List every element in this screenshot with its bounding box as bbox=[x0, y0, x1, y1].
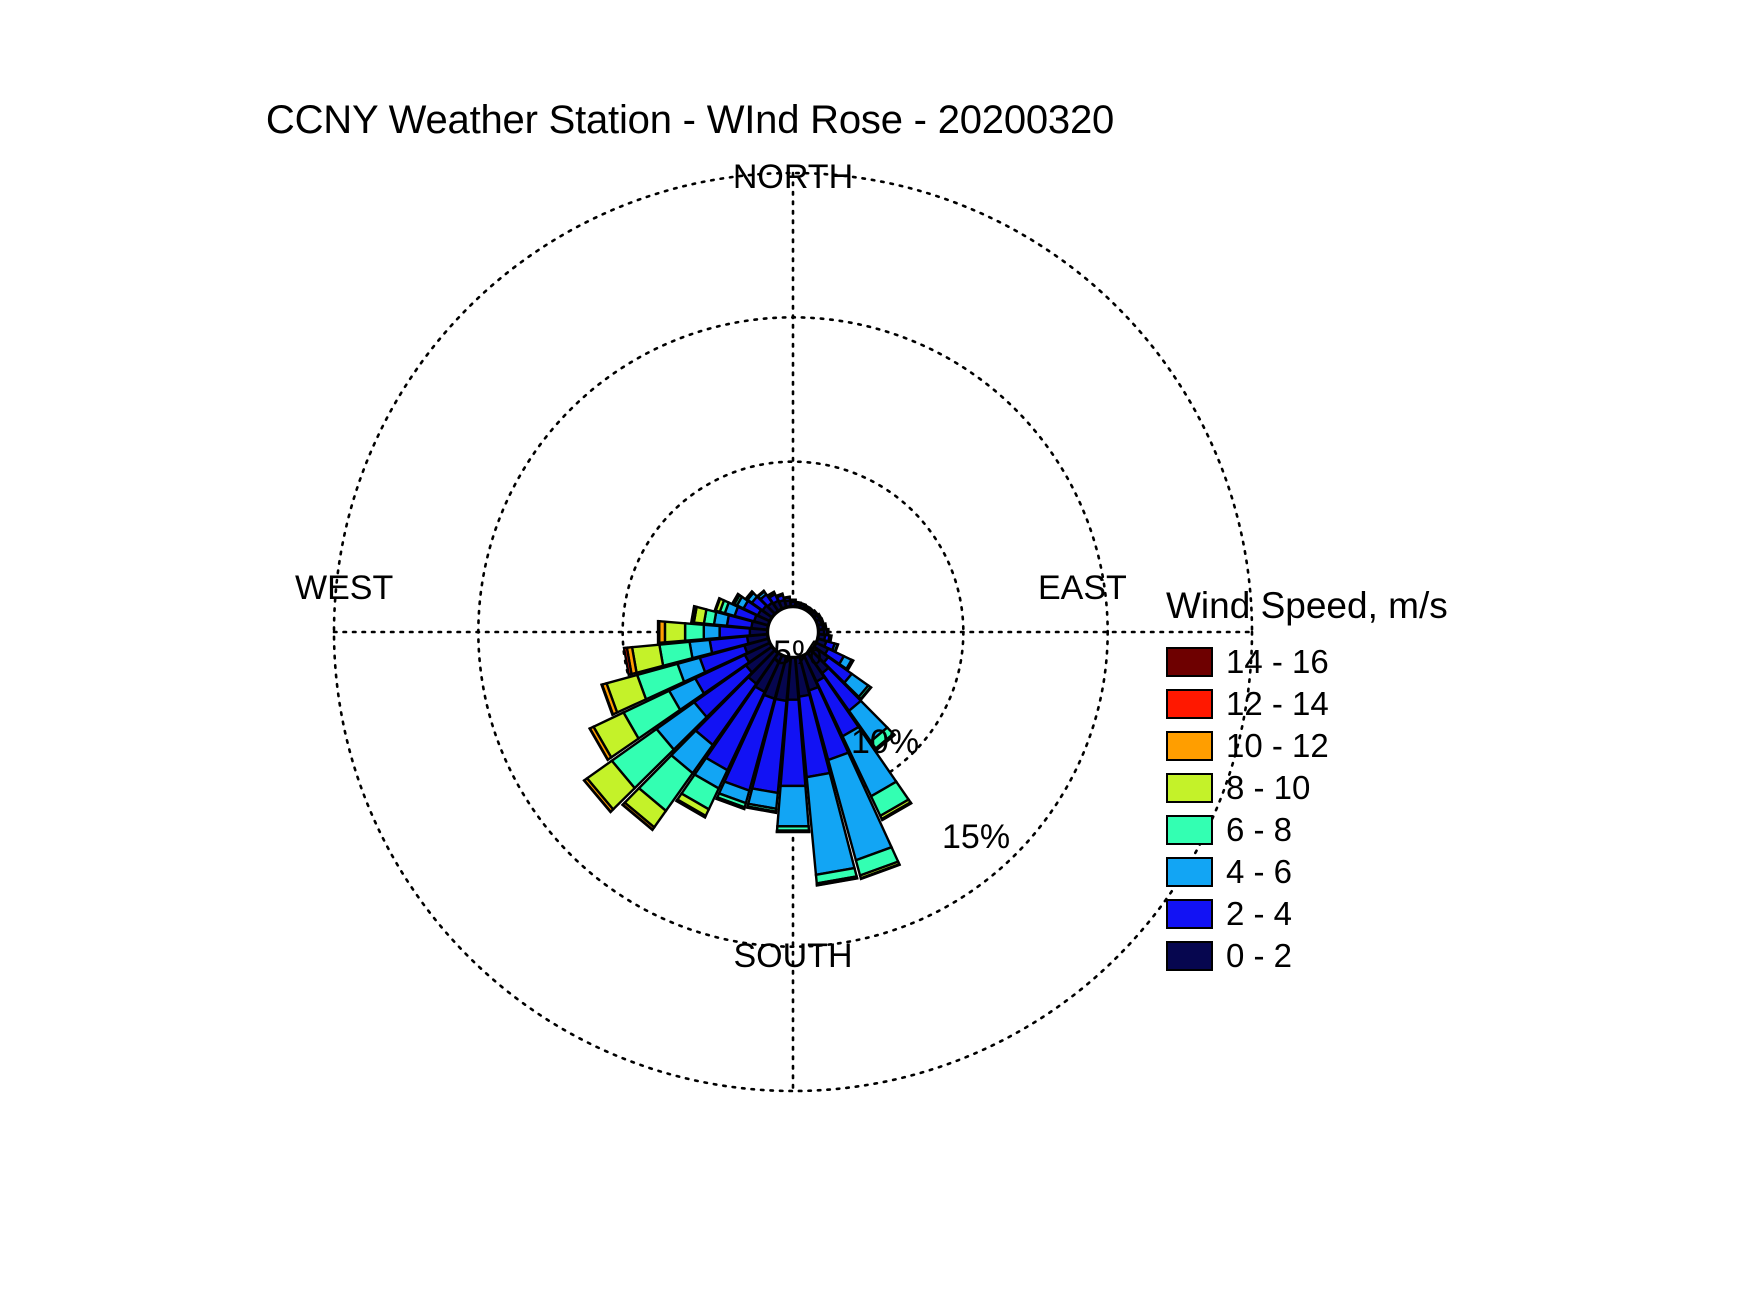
legend-swatch bbox=[1166, 815, 1213, 845]
legend-label: 14 - 16 bbox=[1226, 645, 1329, 678]
radial-tick-15: 15% bbox=[942, 818, 1010, 857]
legend-item: 0 - 2 bbox=[1160, 935, 1580, 976]
legend-item: 4 - 6 bbox=[1160, 851, 1580, 892]
legend-rows: 14 - 1612 - 1410 - 128 - 106 - 84 - 62 -… bbox=[1160, 641, 1580, 976]
legend-label: 4 - 6 bbox=[1226, 855, 1292, 888]
legend-swatch bbox=[1166, 773, 1213, 803]
rose-segment bbox=[784, 597, 790, 599]
rose-segment bbox=[658, 621, 659, 643]
direction-label-south: SOUTH bbox=[734, 937, 853, 976]
legend-swatch bbox=[1166, 899, 1213, 929]
legend-label: 2 - 4 bbox=[1226, 897, 1292, 930]
legend-item: 12 - 14 bbox=[1160, 683, 1580, 724]
legend-swatch bbox=[1166, 731, 1213, 761]
rose-segment bbox=[665, 622, 685, 643]
rose-segment bbox=[777, 786, 808, 826]
rose-segment bbox=[825, 624, 827, 629]
legend-label: 10 - 12 bbox=[1226, 729, 1329, 762]
legend-label: 6 - 8 bbox=[1226, 813, 1292, 846]
legend-label: 0 - 2 bbox=[1226, 939, 1292, 972]
legend-item: 8 - 10 bbox=[1160, 767, 1580, 808]
legend-item: 10 - 12 bbox=[1160, 725, 1580, 766]
legend-swatch bbox=[1166, 857, 1213, 887]
legend-swatch bbox=[1166, 941, 1213, 971]
wind-rose-figure: CCNY Weather Station - WInd Rose - 20200… bbox=[0, 0, 1750, 1313]
legend-title: Wind Speed, m/s bbox=[1166, 585, 1580, 627]
rose-segment bbox=[776, 594, 782, 597]
legend-label: 8 - 10 bbox=[1226, 771, 1310, 804]
direction-label-west: WEST bbox=[295, 569, 393, 608]
radial-tick-10: 10% bbox=[851, 723, 919, 762]
legend-label: 12 - 14 bbox=[1226, 687, 1329, 720]
legend: Wind Speed, m/s 14 - 1612 - 1410 - 128 -… bbox=[1160, 585, 1580, 977]
radial-tick-5: 5% bbox=[773, 634, 822, 673]
rose-segment bbox=[830, 636, 831, 642]
direction-label-north: NORTH bbox=[733, 158, 853, 197]
legend-swatch bbox=[1166, 647, 1213, 677]
legend-swatch bbox=[1166, 689, 1213, 719]
legend-item: 6 - 8 bbox=[1160, 809, 1580, 850]
rose-segment bbox=[704, 625, 720, 639]
legend-item: 14 - 16 bbox=[1160, 641, 1580, 682]
rose-segment bbox=[685, 623, 704, 640]
direction-label-east: EAST bbox=[1038, 569, 1127, 608]
legend-item: 2 - 4 bbox=[1160, 893, 1580, 934]
